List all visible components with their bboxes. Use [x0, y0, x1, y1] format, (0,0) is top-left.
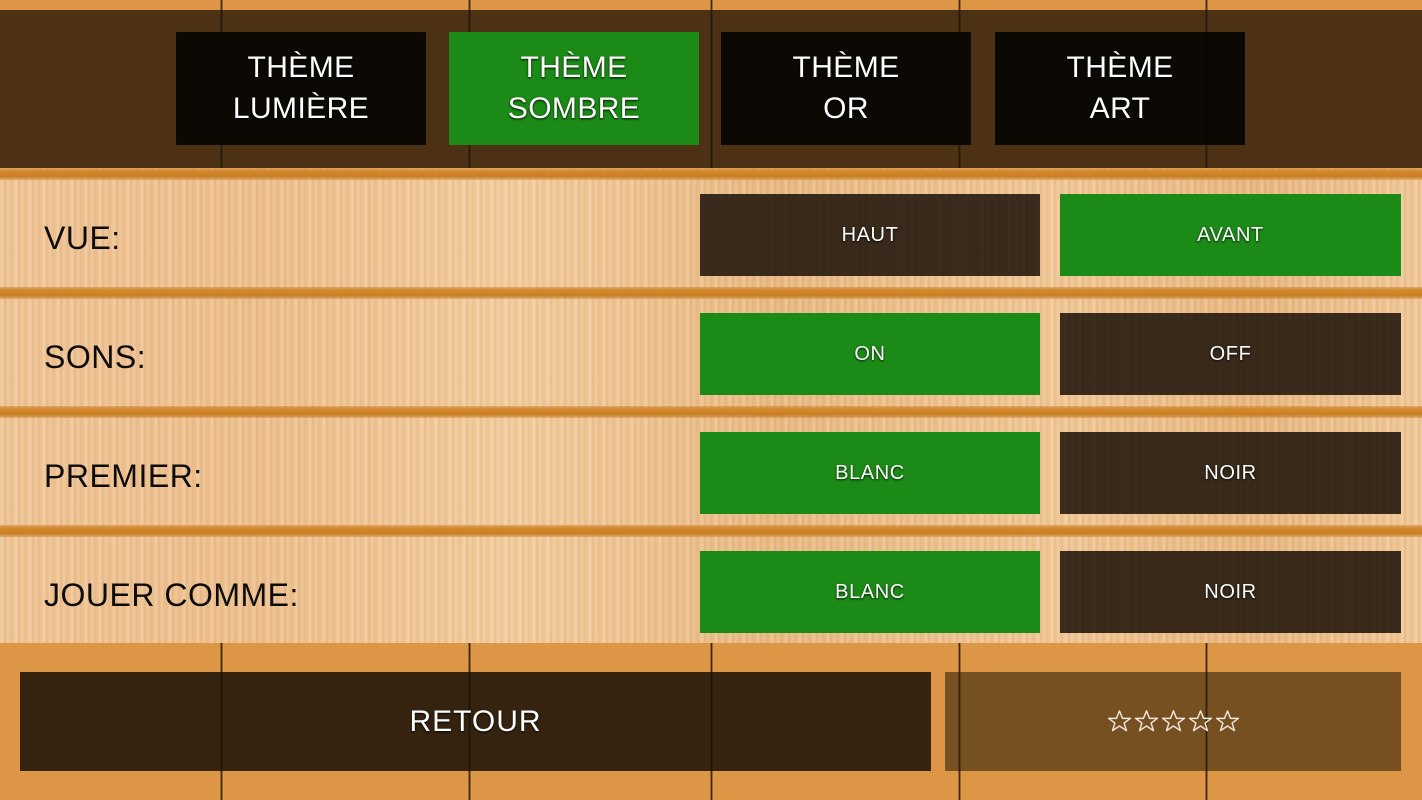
settings-screen: THÈME LUMIÈRE THÈME SOMBRE THÈME OR THÈM…: [0, 0, 1422, 800]
theme-button-art-line1: THÈME: [1067, 48, 1174, 89]
settings-row-first-label: PREMIER:: [44, 458, 203, 495]
theme-button-dark-line2: SOMBRE: [508, 89, 640, 130]
theme-button-gold-line1: THÈME: [793, 48, 900, 89]
star-outline-icon[interactable]: [1133, 708, 1160, 735]
bottom-bar: RETOUR: [0, 643, 1422, 800]
settings-row-view-label: VUE:: [44, 220, 121, 257]
star-outline-icon[interactable]: [1106, 708, 1133, 735]
theme-button-art[interactable]: THÈME ART: [995, 32, 1245, 145]
panel-divider: [0, 168, 1422, 180]
play-as-option-white[interactable]: BLANC: [700, 551, 1040, 633]
settings-row-sounds-label: SONS:: [44, 339, 146, 376]
theme-button-gold[interactable]: THÈME OR: [721, 32, 971, 145]
theme-button-art-line2: ART: [1090, 89, 1151, 130]
panel-divider: [0, 525, 1422, 537]
settings-panel: VUE: HAUT AVANT SONS: ON OFF PREMIER: BL…: [0, 168, 1422, 643]
view-option-top[interactable]: HAUT: [700, 194, 1040, 276]
rate-app-button[interactable]: [945, 672, 1401, 771]
sounds-option-off[interactable]: OFF: [1060, 313, 1401, 395]
star-rating[interactable]: [1106, 708, 1241, 735]
settings-row-play-as: JOUER COMME: BLANC NOIR: [0, 537, 1422, 643]
theme-selector: THÈME LUMIÈRE THÈME SOMBRE THÈME OR THÈM…: [0, 10, 1422, 168]
sounds-option-on[interactable]: ON: [700, 313, 1040, 395]
theme-button-light-line1: THÈME: [248, 48, 355, 89]
theme-button-dark[interactable]: THÈME SOMBRE: [449, 32, 699, 145]
back-button[interactable]: RETOUR: [20, 672, 931, 771]
star-outline-icon[interactable]: [1160, 708, 1187, 735]
view-option-front-label: AVANT: [1197, 224, 1264, 247]
sounds-option-on-label: ON: [854, 343, 885, 366]
settings-row-play-as-label: JOUER COMME:: [44, 577, 299, 614]
play-as-option-white-label: BLANC: [835, 581, 905, 604]
play-as-option-black-label: NOIR: [1204, 581, 1256, 604]
panel-divider: [0, 287, 1422, 299]
star-outline-icon[interactable]: [1214, 708, 1241, 735]
settings-row-sounds: SONS: ON OFF: [0, 299, 1422, 406]
theme-button-dark-line1: THÈME: [521, 48, 628, 89]
play-as-option-black[interactable]: NOIR: [1060, 551, 1401, 633]
view-option-front[interactable]: AVANT: [1060, 194, 1401, 276]
back-button-label: RETOUR: [409, 705, 541, 739]
star-outline-icon[interactable]: [1187, 708, 1214, 735]
panel-divider: [0, 406, 1422, 418]
sounds-option-off-label: OFF: [1210, 343, 1252, 366]
first-option-black-label: NOIR: [1204, 462, 1256, 485]
first-option-black[interactable]: NOIR: [1060, 432, 1401, 514]
theme-button-light-line2: LUMIÈRE: [233, 89, 369, 130]
theme-button-light[interactable]: THÈME LUMIÈRE: [176, 32, 426, 145]
view-option-top-label: HAUT: [842, 224, 899, 247]
first-option-white[interactable]: BLANC: [700, 432, 1040, 514]
settings-row-view: VUE: HAUT AVANT: [0, 180, 1422, 287]
settings-row-first: PREMIER: BLANC NOIR: [0, 418, 1422, 525]
theme-button-gold-line2: OR: [823, 89, 869, 130]
first-option-white-label: BLANC: [835, 462, 905, 485]
